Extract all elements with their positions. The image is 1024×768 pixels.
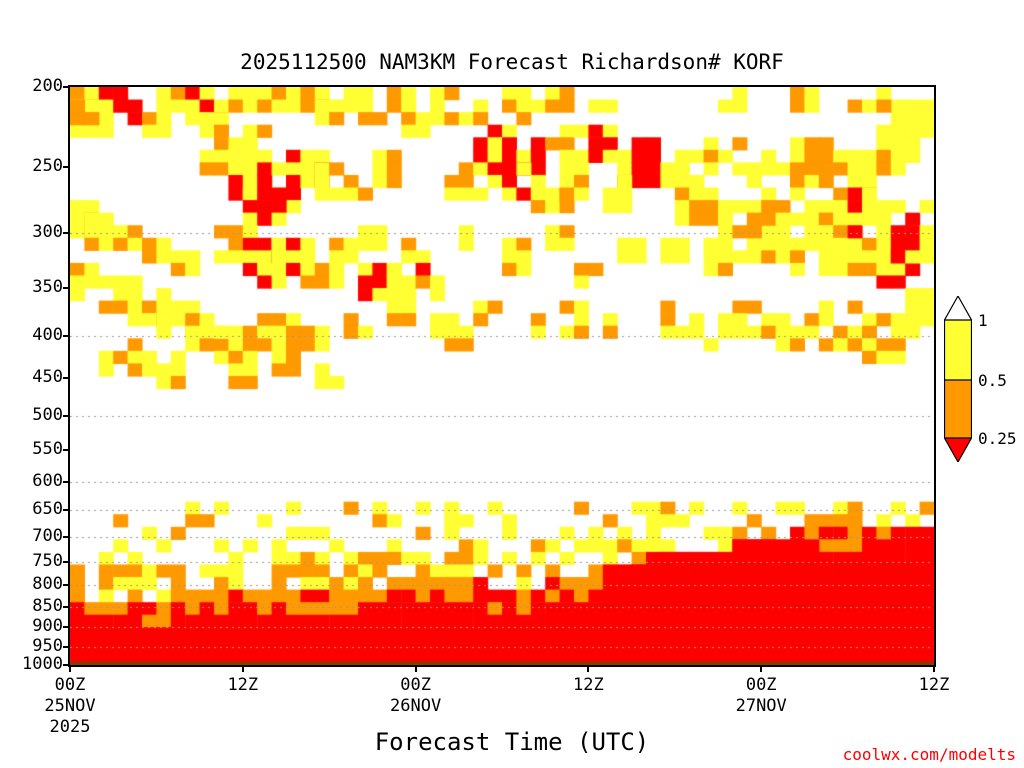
x-tick-label: 00Z (716, 675, 806, 695)
y-tick-label: 500 (32, 405, 63, 425)
colorbar: 1 0.5 0.25 (944, 296, 972, 462)
y-tick-mark (63, 166, 70, 168)
y-tick-label: 350 (32, 277, 63, 297)
y-tick-mark (63, 509, 70, 511)
y-tick-label: 550 (32, 439, 63, 459)
y-tick-mark (63, 481, 70, 483)
x-tick-date-label: 27NOV (716, 696, 806, 716)
plot-area (68, 85, 936, 667)
y-tick-label: 250 (32, 156, 63, 176)
x-tick-label: 00Z (371, 675, 461, 695)
y-tick-label: 900 (32, 616, 63, 636)
x-tick-date-label: 26NOV (371, 696, 461, 716)
chart-title: 2025112500 NAM3KM Forecast Richardson# K… (0, 50, 1024, 74)
y-tick-mark (63, 584, 70, 586)
x-tick-mark (760, 665, 762, 672)
x-tick-mark (242, 665, 244, 672)
x-tick-mark (415, 665, 417, 672)
x-tick-mark (587, 665, 589, 672)
y-tick-label: 1000 (22, 654, 63, 674)
y-tick-mark (63, 86, 70, 88)
y-tick-label: 650 (32, 499, 63, 519)
y-tick-mark (63, 646, 70, 648)
y-tick-label: 750 (32, 551, 63, 571)
x-tick-label: 00Z (25, 675, 115, 695)
x-tick-mark (69, 665, 71, 672)
colorbar-band-orange (944, 380, 972, 438)
richardson-heatmap (70, 87, 934, 665)
y-tick-label: 600 (32, 471, 63, 491)
credit-text: coolwx.com/modelts (843, 745, 1016, 764)
chart-page: 2025112500 NAM3KM Forecast Richardson# K… (0, 0, 1024, 768)
y-tick-label: 700 (32, 526, 63, 546)
x-tick-label: 12Z (889, 675, 979, 695)
y-tick-mark (63, 287, 70, 289)
colorbar-label-1: 1 (978, 311, 988, 330)
colorbar-label-05: 0.5 (978, 371, 1007, 390)
y-tick-mark (63, 561, 70, 563)
y-tick-label: 950 (32, 636, 63, 656)
y-tick-mark (63, 606, 70, 608)
x-tick-label: 12Z (543, 675, 633, 695)
y-tick-mark (63, 536, 70, 538)
x-tick-label: 12Z (198, 675, 288, 695)
y-tick-mark (63, 377, 70, 379)
y-tick-label: 800 (32, 574, 63, 594)
y-tick-label: 450 (32, 367, 63, 387)
y-tick-label: 400 (32, 325, 63, 345)
y-tick-mark (63, 449, 70, 451)
y-tick-label: 200 (32, 76, 63, 96)
x-tick-mark (933, 665, 935, 672)
y-tick-label: 850 (32, 596, 63, 616)
y-tick-mark (63, 232, 70, 234)
colorbar-band-yellow (944, 320, 972, 380)
y-tick-mark (63, 335, 70, 337)
y-tick-mark (63, 626, 70, 628)
colorbar-bottom-arrow (944, 438, 972, 462)
y-tick-mark (63, 415, 70, 417)
y-tick-label: 300 (32, 222, 63, 242)
x-tick-date-label: 25NOV (25, 696, 115, 716)
colorbar-label-025: 0.25 (978, 429, 1017, 448)
colorbar-top-arrow (944, 296, 972, 320)
